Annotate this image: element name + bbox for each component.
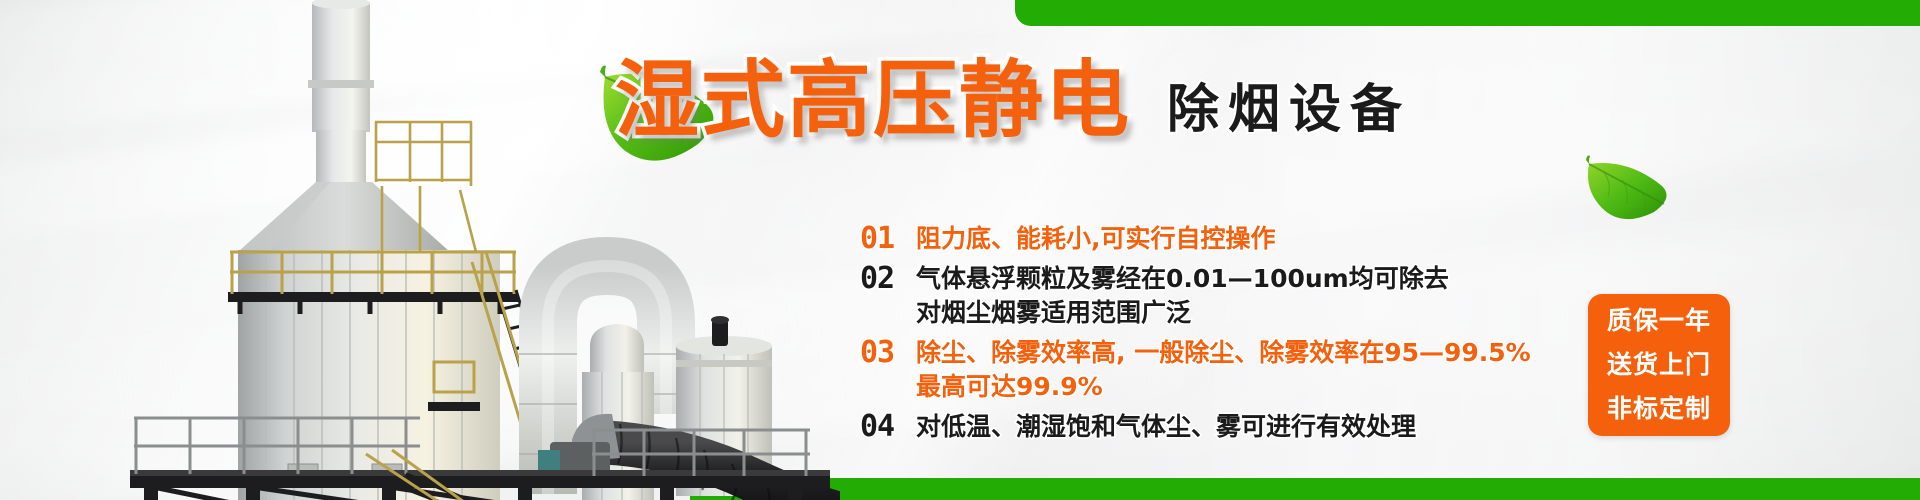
list-item: 04 对低温、潮湿饱和气体尘、雾可进行有效处理 bbox=[860, 410, 1660, 444]
feature-number: 04 bbox=[860, 410, 916, 444]
list-item: 01 阻力底、能耗小,可实行自控操作 bbox=[860, 222, 1660, 256]
feature-number: 03 bbox=[860, 336, 916, 370]
feature-text-line1: 除尘、除雾效率高, 一般除尘、除雾效率在95—99.5% bbox=[916, 338, 1531, 367]
feature-text-line2: 最高可达99.9% bbox=[916, 370, 1531, 404]
promo-banner: 湿式高压静电 除烟设备 01 阻力底、能耗小,可实行自控操作 02 气体悬浮颗粒… bbox=[0, 0, 1920, 500]
feature-text: 气体悬浮颗粒及雾经在0.01—100um均可除去 对烟尘烟雾适用范围广泛 bbox=[916, 262, 1449, 330]
feature-list: 01 阻力底、能耗小,可实行自控操作 02 气体悬浮颗粒及雾经在0.01—100… bbox=[860, 222, 1660, 450]
green-accent-bar-top bbox=[1015, 0, 1920, 26]
headline-group: 湿式高压静电 除烟设备 bbox=[615, 58, 1411, 142]
badge-line-custom: 非标定制 bbox=[1607, 387, 1711, 431]
feature-text: 阻力底、能耗小,可实行自控操作 bbox=[916, 222, 1276, 256]
badge-line-warranty: 质保一年 bbox=[1607, 299, 1711, 343]
feature-text: 除尘、除雾效率高, 一般除尘、除雾效率在95—99.5% 最高可达99.9% bbox=[916, 336, 1531, 404]
feature-number: 01 bbox=[860, 222, 916, 256]
service-guarantee-badge: 质保一年 送货上门 非标定制 bbox=[1588, 294, 1730, 436]
feature-text-line2: 对烟尘烟雾适用范围广泛 bbox=[916, 296, 1449, 330]
feature-text-line1: 阻力底、能耗小,可实行自控操作 bbox=[916, 224, 1276, 253]
list-item: 03 除尘、除雾效率高, 一般除尘、除雾效率在95—99.5% 最高可达99.9… bbox=[860, 336, 1660, 404]
feature-number: 02 bbox=[860, 262, 916, 296]
badge-line-delivery: 送货上门 bbox=[1607, 343, 1711, 387]
feature-text: 对低温、潮湿饱和气体尘、雾可进行有效处理 bbox=[916, 410, 1416, 444]
leaf-icon bbox=[1578, 148, 1678, 220]
feature-text-line1: 气体悬浮颗粒及雾经在0.01—100um均可除去 bbox=[916, 264, 1449, 293]
page-subtitle: 除烟设备 bbox=[1167, 84, 1411, 136]
page-title: 湿式高压静电 bbox=[615, 58, 1131, 142]
green-accent-bar-bottom bbox=[690, 478, 1920, 500]
feature-text-line1: 对低温、潮湿饱和气体尘、雾可进行有效处理 bbox=[916, 412, 1416, 441]
list-item: 02 气体悬浮颗粒及雾经在0.01—100um均可除去 对烟尘烟雾适用范围广泛 bbox=[860, 262, 1660, 330]
